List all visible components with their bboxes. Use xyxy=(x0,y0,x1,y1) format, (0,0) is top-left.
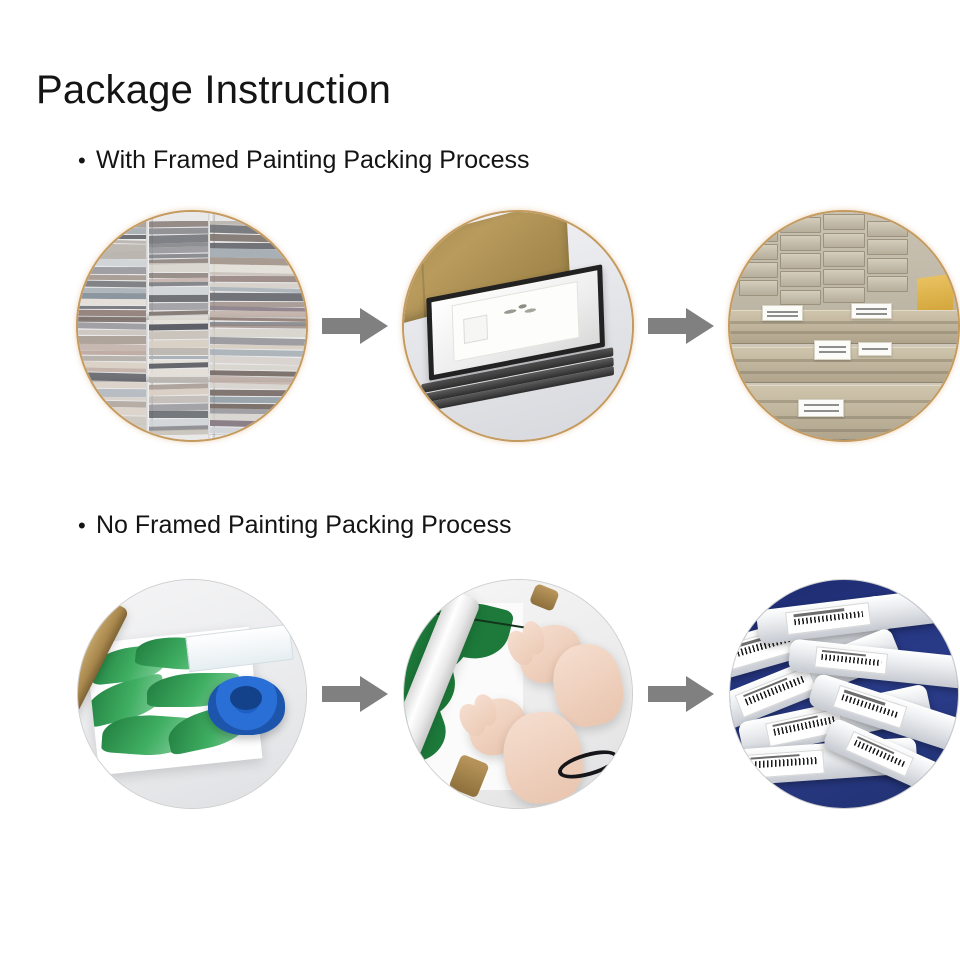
photo-wrapped-framed-paintings-stacks xyxy=(78,212,306,440)
arrow-right-icon xyxy=(322,306,388,346)
section-heading-unframed-label: No Framed Painting Packing Process xyxy=(96,510,511,540)
page-title: Package Instruction xyxy=(36,65,391,115)
photo-caption-framed-1: Stacks of plastic-wrapped framed paintin… xyxy=(76,210,77,211)
photo-caption-unframed-3: Pile of sealed, labelled mailing tubes r… xyxy=(728,578,729,579)
photo-canvas-tube-and-tape xyxy=(78,580,306,808)
process-step-framed-1: Stacks of plastic-wrapped framed paintin… xyxy=(76,210,308,442)
arrow-cell-framed-1: next step xyxy=(308,210,402,442)
arrow-right-icon xyxy=(648,306,714,346)
process-step-unframed-3: Pile of sealed, labelled mailing tubes r… xyxy=(728,578,960,810)
scene-roll-prep xyxy=(78,580,306,808)
photo-cartons-stacked-in-warehouse xyxy=(730,212,958,440)
photo-hands-rolling-canvas-into-tube xyxy=(404,580,632,808)
scene-carton xyxy=(404,212,632,440)
photo-caption-framed-2: Framed painting placed inside an open ca… xyxy=(402,210,403,211)
scene-packed-tubes xyxy=(730,580,958,808)
section-heading-framed-label: With Framed Painting Packing Process xyxy=(96,145,530,175)
scene-hands-rolling xyxy=(404,580,632,808)
arrow-cell-unframed-1: next step xyxy=(308,578,402,810)
scene-stacks xyxy=(78,212,306,440)
photo-packed-tubes-pile xyxy=(730,580,958,808)
arrow-cell-unframed-2 xyxy=(634,578,728,810)
section-heading-unframed: • No Framed Painting Packing Process xyxy=(78,510,511,541)
photo-caption-framed-3: Sealed cartons with shipping labels stac… xyxy=(728,210,729,211)
section-heading-framed: • With Framed Painting Packing Process xyxy=(78,145,530,176)
bullet-icon: • xyxy=(78,146,96,176)
process-step-framed-2: Framed painting placed inside an open ca… xyxy=(402,210,634,442)
arrow-right-icon xyxy=(322,674,388,714)
process-row-framed: Stacks of plastic-wrapped framed paintin… xyxy=(0,210,960,442)
photo-framed-painting-in-carton xyxy=(404,212,632,440)
process-row-unframed: Rolled leaf canvas print with kraft mail… xyxy=(0,578,960,810)
process-step-framed-3: Sealed cartons with shipping labels stac… xyxy=(728,210,960,442)
photo-caption-unframed-1: Rolled leaf canvas print with kraft mail… xyxy=(76,578,77,579)
process-step-unframed-1: Rolled leaf canvas print with kraft mail… xyxy=(76,578,308,810)
process-step-unframed-2: Hands rolling the canvas print into the … xyxy=(402,578,634,810)
bullet-icon: • xyxy=(78,511,96,541)
arrow-right-icon xyxy=(648,674,714,714)
photo-caption-unframed-2: Hands rolling the canvas print into the … xyxy=(402,578,403,579)
arrow-cell-framed-2 xyxy=(634,210,728,442)
scene-warehouse xyxy=(730,212,958,440)
package-instruction-page: { "page": { "title": "Package Instructio… xyxy=(0,0,960,960)
